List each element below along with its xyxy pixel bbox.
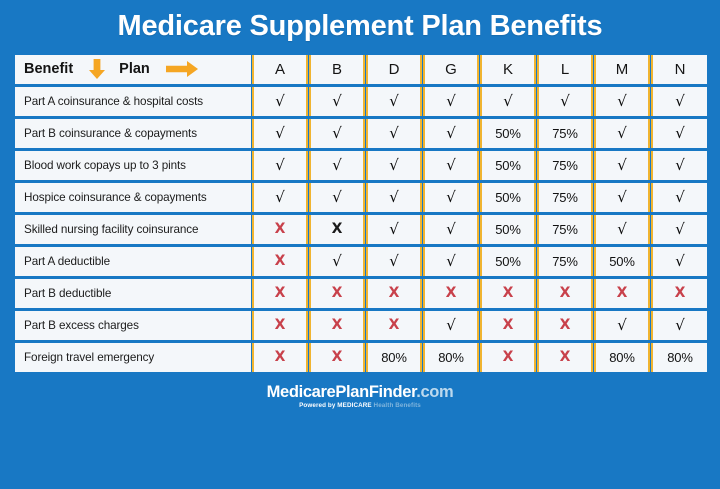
benefit-cell-plan-k: √ (480, 87, 536, 116)
benefits-table-wrap: Benefit Plan (0, 52, 720, 375)
benefit-cell-plan-g: √ (423, 247, 479, 276)
benefit-cell-plan-d: √ (366, 151, 422, 180)
brand-tld: .com (416, 383, 453, 401)
benefit-cell-plan-n: √ (651, 247, 707, 276)
benefit-cell-plan-d: √ (366, 119, 422, 148)
benefit-cell-plan-m: 80% (594, 343, 650, 372)
benefit-cell-plan-g: √ (423, 183, 479, 212)
arrow-right-icon (162, 60, 202, 78)
benefit-cell-plan-n: √ (651, 151, 707, 180)
table-row: Part B excess chargesXXX√XX√√ (15, 311, 707, 340)
benefit-cell-plan-g: √ (423, 119, 479, 148)
benefit-cell-plan-d: 80% (366, 343, 422, 372)
benefit-cell-plan-g: √ (423, 151, 479, 180)
benefit-cell-plan-k: X (480, 343, 536, 372)
benefit-cell-plan-n: 80% (651, 343, 707, 372)
benefit-cell-plan-m: √ (594, 311, 650, 340)
benefit-cell-plan-l: X (537, 311, 593, 340)
benefit-cell-plan-n: √ (651, 215, 707, 244)
benefit-cell-plan-k: 50% (480, 215, 536, 244)
benefit-cell-plan-d: √ (366, 87, 422, 116)
benefit-cell-plan-n: √ (651, 119, 707, 148)
benefit-cell-plan-b: √ (309, 151, 365, 180)
benefit-cell-plan-g: √ (423, 87, 479, 116)
table-row: Blood work copays up to 3 pints√√√√50%75… (15, 151, 707, 180)
benefit-label: Part B excess charges (15, 311, 251, 340)
benefit-cell-plan-l: X (537, 343, 593, 372)
benefit-cell-plan-l: 75% (537, 247, 593, 276)
table-row: Hospice coinsurance & copayments√√√√50%7… (15, 183, 707, 212)
benefit-cell-plan-m: √ (594, 151, 650, 180)
benefit-cell-plan-l: 75% (537, 151, 593, 180)
column-header-plan-b[interactable]: B (309, 55, 365, 84)
benefit-cell-plan-m: √ (594, 87, 650, 116)
benefit-cell-plan-d: √ (366, 247, 422, 276)
benefit-label: Part B coinsurance & copayments (15, 119, 251, 148)
poster-root: Medicare Supplement Plan Benefits Benefi… (0, 0, 720, 489)
benefit-cell-plan-l: 75% (537, 183, 593, 212)
benefit-cell-plan-m: √ (594, 215, 650, 244)
benefit-cell-plan-k: 50% (480, 119, 536, 148)
benefit-cell-plan-g: √ (423, 215, 479, 244)
benefit-label: Part A deductible (15, 247, 251, 276)
benefit-cell-plan-n: √ (651, 311, 707, 340)
column-header-plan-m[interactable]: M (594, 55, 650, 84)
benefit-cell-plan-b: X (309, 215, 365, 244)
table-row: Part A coinsurance & hospital costs√√√√√… (15, 87, 707, 116)
benefit-cell-plan-a: X (252, 247, 308, 276)
benefit-cell-plan-a: √ (252, 87, 308, 116)
page-title: Medicare Supplement Plan Benefits (0, 0, 720, 52)
benefit-cell-plan-g: X (423, 279, 479, 308)
benefit-label: Foreign travel emergency (15, 343, 251, 372)
table-row: Skilled nursing facility coinsuranceXX√√… (15, 215, 707, 244)
benefit-cell-plan-b: X (309, 343, 365, 372)
table-row: Part A deductibleX√√√50%75%50%√ (15, 247, 707, 276)
header-row: Benefit Plan (15, 55, 707, 84)
benefit-label: Part B deductible (15, 279, 251, 308)
header-benefit-label: Benefit (24, 61, 73, 77)
arrow-down-icon (84, 58, 110, 80)
benefit-cell-plan-d: √ (366, 183, 422, 212)
benefits-table: Benefit Plan (14, 52, 708, 375)
header-benefit-plan-legend: Benefit Plan (15, 55, 251, 84)
header-plan-label: Plan (119, 61, 150, 77)
benefit-cell-plan-m: X (594, 279, 650, 308)
footer-tagline: Powered by MEDICARE Health Benefits (299, 403, 421, 409)
benefit-cell-plan-b: √ (309, 119, 365, 148)
table-body: Part A coinsurance & hospital costs√√√√√… (15, 87, 707, 372)
column-header-plan-g[interactable]: G (423, 55, 479, 84)
benefit-cell-plan-d: √ (366, 215, 422, 244)
brand-logo[interactable]: MedicarePlanFinder.com (267, 384, 454, 401)
benefit-label: Blood work copays up to 3 pints (15, 151, 251, 180)
benefit-label: Hospice coinsurance & copayments (15, 183, 251, 212)
column-header-plan-a[interactable]: A (252, 55, 308, 84)
benefit-cell-plan-a: X (252, 279, 308, 308)
benefit-cell-plan-k: 50% (480, 151, 536, 180)
benefit-cell-plan-b: √ (309, 87, 365, 116)
benefit-cell-plan-b: √ (309, 183, 365, 212)
benefit-cell-plan-k: X (480, 279, 536, 308)
benefit-cell-plan-d: X (366, 279, 422, 308)
column-header-plan-k[interactable]: K (480, 55, 536, 84)
benefit-cell-plan-a: √ (252, 151, 308, 180)
benefit-cell-plan-g: 80% (423, 343, 479, 372)
benefit-cell-plan-a: X (252, 311, 308, 340)
benefit-cell-plan-k: 50% (480, 247, 536, 276)
column-header-plan-l[interactable]: L (537, 55, 593, 84)
column-header-plan-d[interactable]: D (366, 55, 422, 84)
table-header: Benefit Plan (15, 55, 707, 84)
benefit-cell-plan-d: X (366, 311, 422, 340)
benefit-cell-plan-m: √ (594, 183, 650, 212)
benefit-cell-plan-a: √ (252, 183, 308, 212)
tagline-secondary: Health Benefits (374, 402, 421, 409)
benefit-label: Part A coinsurance & hospital costs (15, 87, 251, 116)
table-row: Part B coinsurance & copayments√√√√50%75… (15, 119, 707, 148)
benefit-cell-plan-l: 75% (537, 215, 593, 244)
benefit-cell-plan-k: 50% (480, 183, 536, 212)
benefit-cell-plan-b: X (309, 311, 365, 340)
benefit-cell-plan-g: √ (423, 311, 479, 340)
brand-name: MedicarePlanFinder (267, 383, 417, 401)
benefit-cell-plan-a: X (252, 343, 308, 372)
benefit-cell-plan-m: √ (594, 119, 650, 148)
benefit-cell-plan-l: 75% (537, 119, 593, 148)
table-row: Foreign travel emergencyXX80%80%XX80%80% (15, 343, 707, 372)
column-header-plan-n[interactable]: N (651, 55, 707, 84)
benefit-cell-plan-a: √ (252, 119, 308, 148)
benefit-cell-plan-l: X (537, 279, 593, 308)
benefit-label: Skilled nursing facility coinsurance (15, 215, 251, 244)
benefit-cell-plan-k: X (480, 311, 536, 340)
benefit-cell-plan-l: √ (537, 87, 593, 116)
benefit-cell-plan-b: √ (309, 247, 365, 276)
benefit-cell-plan-n: X (651, 279, 707, 308)
footer: MedicarePlanFinder.com Powered by MEDICA… (0, 375, 720, 489)
tagline-primary: Powered by MEDICARE (299, 402, 372, 409)
benefit-cell-plan-n: √ (651, 87, 707, 116)
benefit-cell-plan-n: √ (651, 183, 707, 212)
table-row: Part B deductibleXXXXXXXX (15, 279, 707, 308)
benefit-cell-plan-m: 50% (594, 247, 650, 276)
benefit-cell-plan-b: X (309, 279, 365, 308)
benefit-cell-plan-a: X (252, 215, 308, 244)
